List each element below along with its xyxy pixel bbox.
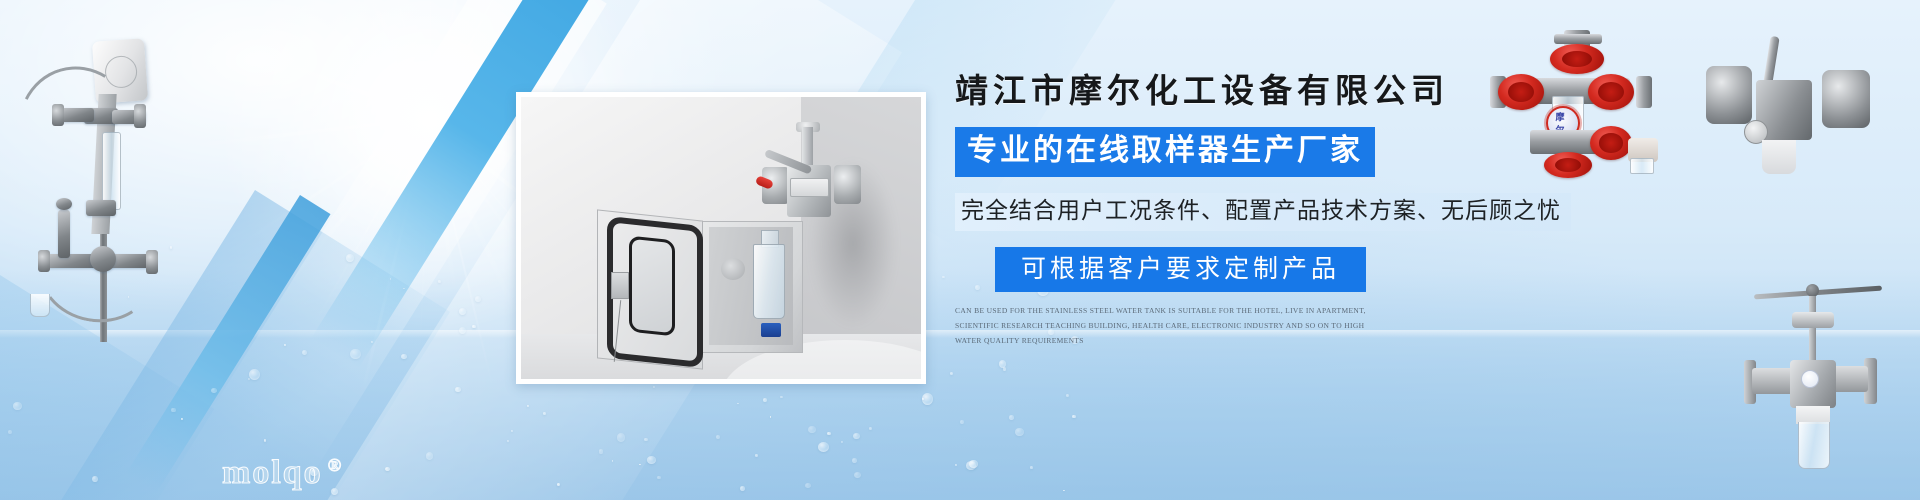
company-name: 靖江市摩尔化工设备有限公司 (955, 72, 1715, 113)
english-description: CAN BE USED FOR THE STAINLESS STEEL WATE… (955, 304, 1375, 348)
subline-row: 完全结合用户工况条件、配置产品技术方案、无后顾之忧 (955, 193, 1715, 231)
device-relief-valve (58, 210, 70, 258)
lever-bottom-cap (1762, 140, 1796, 174)
left-sampler-device-graphic (12, 22, 187, 342)
needle-arm-right (1832, 366, 1868, 392)
photo-top-valve (753, 122, 865, 229)
subline-text: 完全结合用户工况条件、配置产品技术方案、无后顾之忧 (955, 193, 1571, 231)
device-flange-d (146, 250, 158, 274)
lever-flange-right (1822, 70, 1870, 128)
photo-door-window (629, 236, 675, 337)
device-flange-a (52, 104, 64, 126)
tagline-badge: 专业的在线取样器生产厂家 (955, 127, 1375, 177)
device-hub (90, 246, 116, 272)
needle-stem (1809, 296, 1816, 368)
photo-blue-cap (761, 323, 781, 337)
lever-valve-graphic (1700, 28, 1880, 203)
needle-valve-graphic (1768, 272, 1918, 492)
device-flange-b (134, 104, 146, 128)
promo-banner: 摩尔 靖江市摩尔化工设备有限公司 专业的在线取样器生产厂家 完全结合用户 (0, 0, 1920, 500)
photo-valve-flange-right (834, 165, 861, 204)
device-sight-glass (102, 132, 121, 210)
device-flange-c (38, 250, 50, 272)
needle-sample-vial (1798, 422, 1830, 469)
registered-mark-icon: ® (328, 455, 343, 475)
custom-product-badge: 可根据客户要求定制产品 (995, 247, 1366, 292)
needle-arm-left (1752, 368, 1794, 394)
photo-door-lock (611, 272, 629, 299)
photo-cabinet-port (721, 258, 745, 281)
product-photo-inner (521, 97, 921, 379)
watermark-text: molqo (222, 454, 323, 491)
headline-copy-block: 靖江市摩尔化工设备有限公司 专业的在线取样器生产厂家 完全结合用户工况条件、配置… (955, 72, 1715, 348)
photo-valve-label (790, 178, 829, 197)
cross-cap-top (1554, 34, 1602, 44)
needle-bonnet (1792, 312, 1834, 328)
handwheel-top (1550, 44, 1604, 74)
photo-sample-bottle (753, 244, 785, 319)
device-relief-cap (56, 198, 72, 210)
device-block-b (86, 200, 116, 216)
product-photo (516, 92, 926, 384)
watermark-logo: molqo® (222, 454, 343, 492)
needle-badge-icon (1801, 370, 1819, 388)
device-sample-vial (30, 294, 50, 317)
